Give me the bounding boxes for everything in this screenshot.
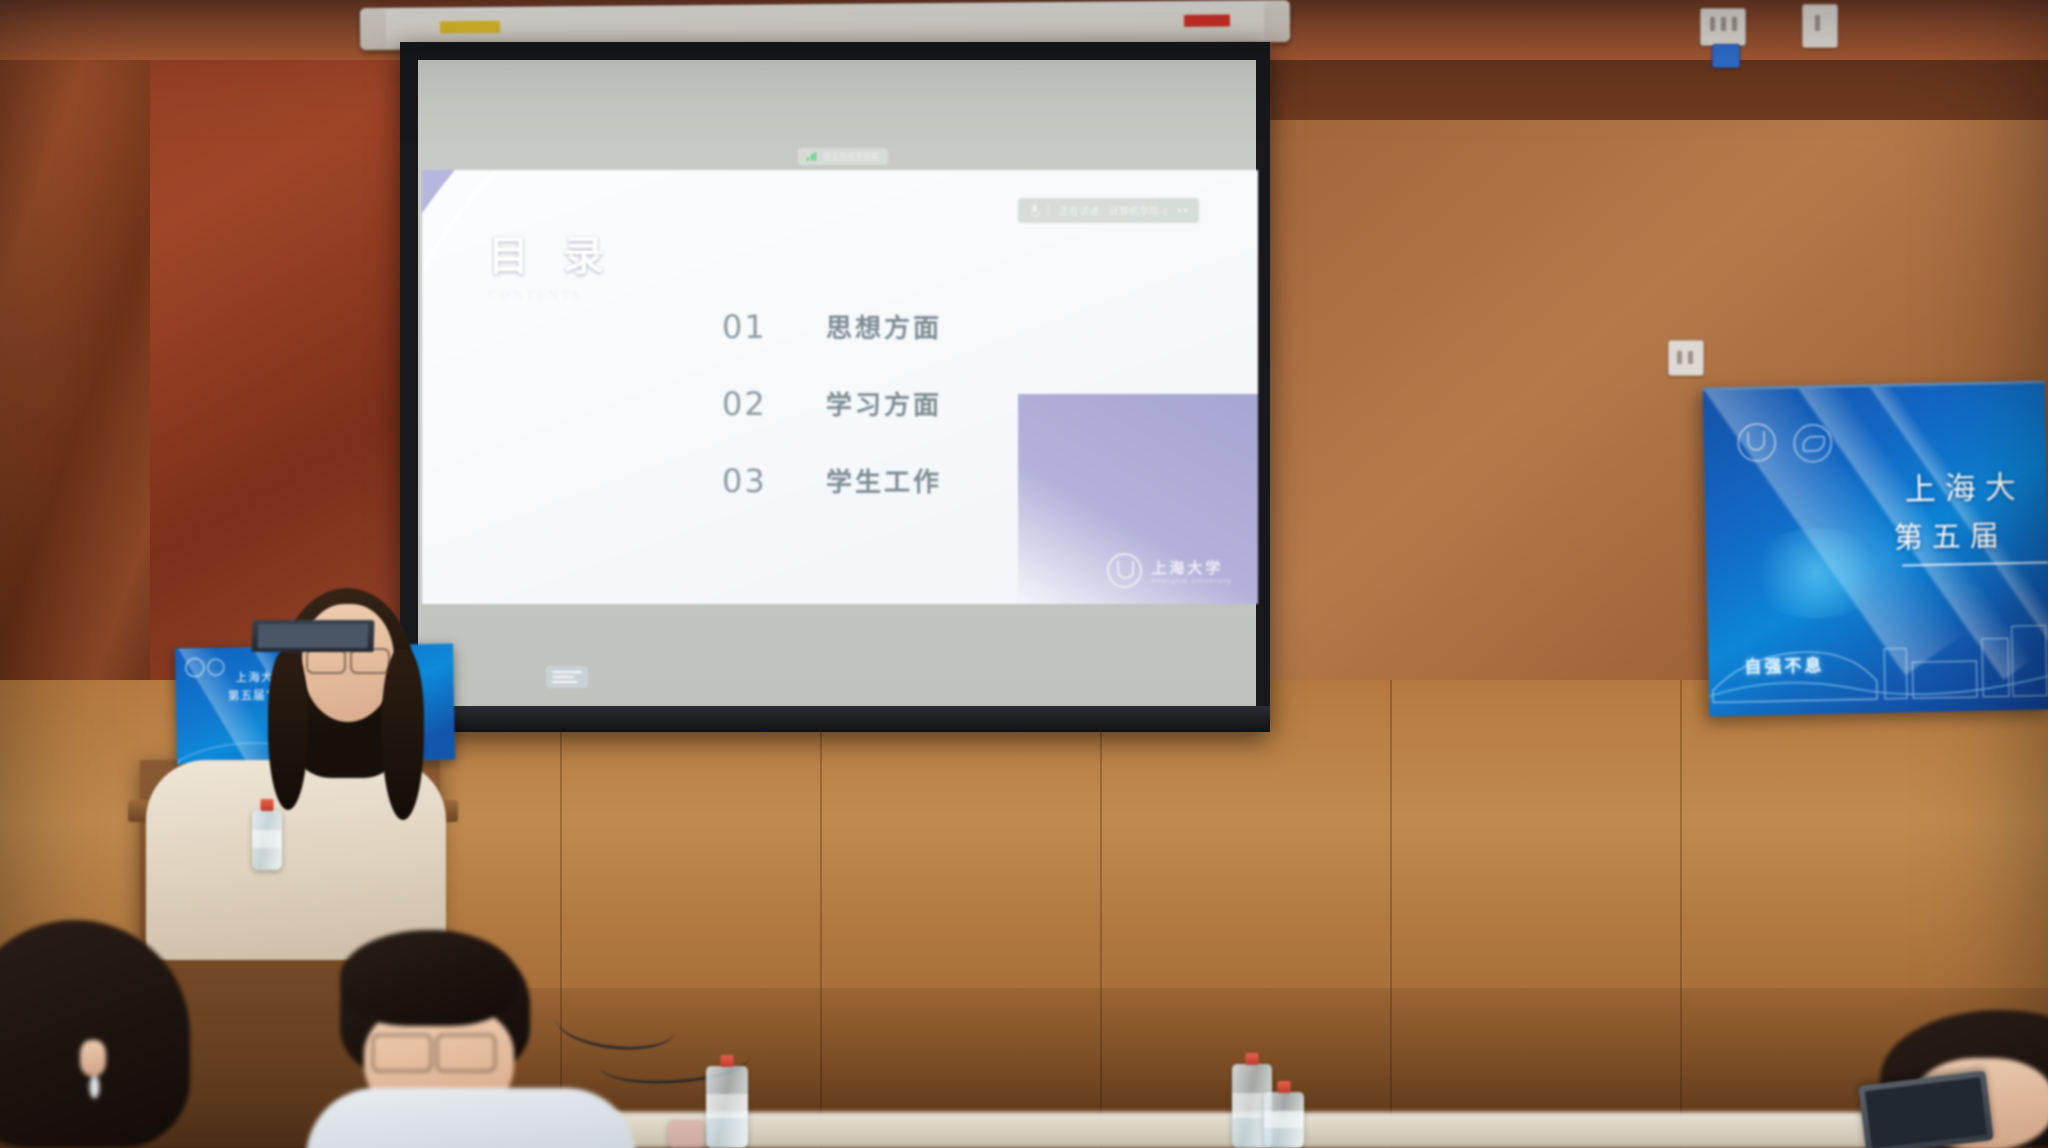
toc-number: 01 [722, 308, 826, 346]
bottle-cap [1246, 1053, 1259, 1065]
bottle-cap [1278, 1081, 1291, 1093]
slide-title-cn: 目 录 [488, 222, 614, 282]
projection-screen-weight-bar [400, 706, 1270, 732]
presenter-hair-left [268, 650, 308, 810]
banner-title-line2: 第五届 [1893, 512, 2008, 556]
shanghai-university-emblem-icon [1107, 553, 1142, 588]
water-bottle[interactable] [668, 1120, 704, 1148]
banner-title-line1: 上海大 [1904, 462, 2025, 510]
power-outlet [1802, 4, 1838, 48]
slide-toc-list: 01 思想方面 02 学习方面 03 学生工作 [722, 288, 942, 519]
warning-label [440, 21, 500, 34]
slide-title-block: 目 录 CONTENTS [488, 222, 614, 303]
screen-share-status-chip[interactable]: 您正在共享屏幕 [798, 148, 888, 165]
list-icon[interactable] [546, 666, 588, 688]
network-port [1712, 44, 1740, 68]
slide-university-logo: 上海大学 Shanghai University [1107, 553, 1232, 588]
power-outlet [1668, 340, 1704, 376]
toc-label: 思想方面 [826, 308, 942, 345]
water-bottle[interactable] [706, 1066, 748, 1148]
lecture-hall-scene: 目 录 CONTENTS 01 思想方面 02 学习方面 03 学生工作 上海大… [0, 0, 2048, 1148]
water-bottle[interactable] [1264, 1092, 1304, 1148]
slide-title-en: CONTENTS [488, 287, 614, 303]
presenter-hair-right [382, 650, 424, 820]
active-speaker-chip[interactable]: 正在讲述：计算机学院-1 [1018, 198, 1199, 223]
more-dots-icon[interactable] [1178, 209, 1187, 212]
toc-item: 03 学生工作 [722, 442, 942, 519]
signal-bars-icon [807, 152, 816, 161]
toc-number: 03 [722, 462, 826, 500]
audience-member-center [330, 930, 630, 1148]
earring [90, 1076, 99, 1098]
toc-number: 02 [722, 385, 826, 423]
presentation-slide: 目 录 CONTENTS 01 思想方面 02 学习方面 03 学生工作 上海大… [422, 170, 1258, 604]
toc-label: 学习方面 [826, 385, 942, 422]
microphone-icon [1030, 205, 1038, 217]
slide-logo-en: Shanghai University [1151, 578, 1232, 585]
event-backdrop-banner: 上海大 第五届 自强不息 [1703, 380, 2048, 716]
water-bottle[interactable] [252, 810, 282, 870]
toc-label: 学生工作 [826, 462, 942, 499]
slide-logo-cn: 上海大学 [1151, 557, 1232, 578]
banner-motto: 自强不息 [1744, 651, 1825, 678]
power-outlet [1700, 8, 1746, 46]
bottle-cap [721, 1055, 734, 1067]
screen-share-status-label: 您正在共享屏幕 [823, 151, 879, 162]
bottle-cap [261, 799, 274, 811]
audience-member-left [0, 920, 190, 1148]
wall-wood-left [0, 0, 150, 760]
brand-label [1184, 14, 1230, 26]
active-speaker-label: 正在讲述：计算机学院-1 [1059, 203, 1168, 218]
toc-item: 01 思想方面 [722, 288, 942, 365]
laptop[interactable] [251, 620, 374, 652]
divider [1048, 205, 1049, 216]
toc-item: 02 学习方面 [722, 365, 942, 442]
